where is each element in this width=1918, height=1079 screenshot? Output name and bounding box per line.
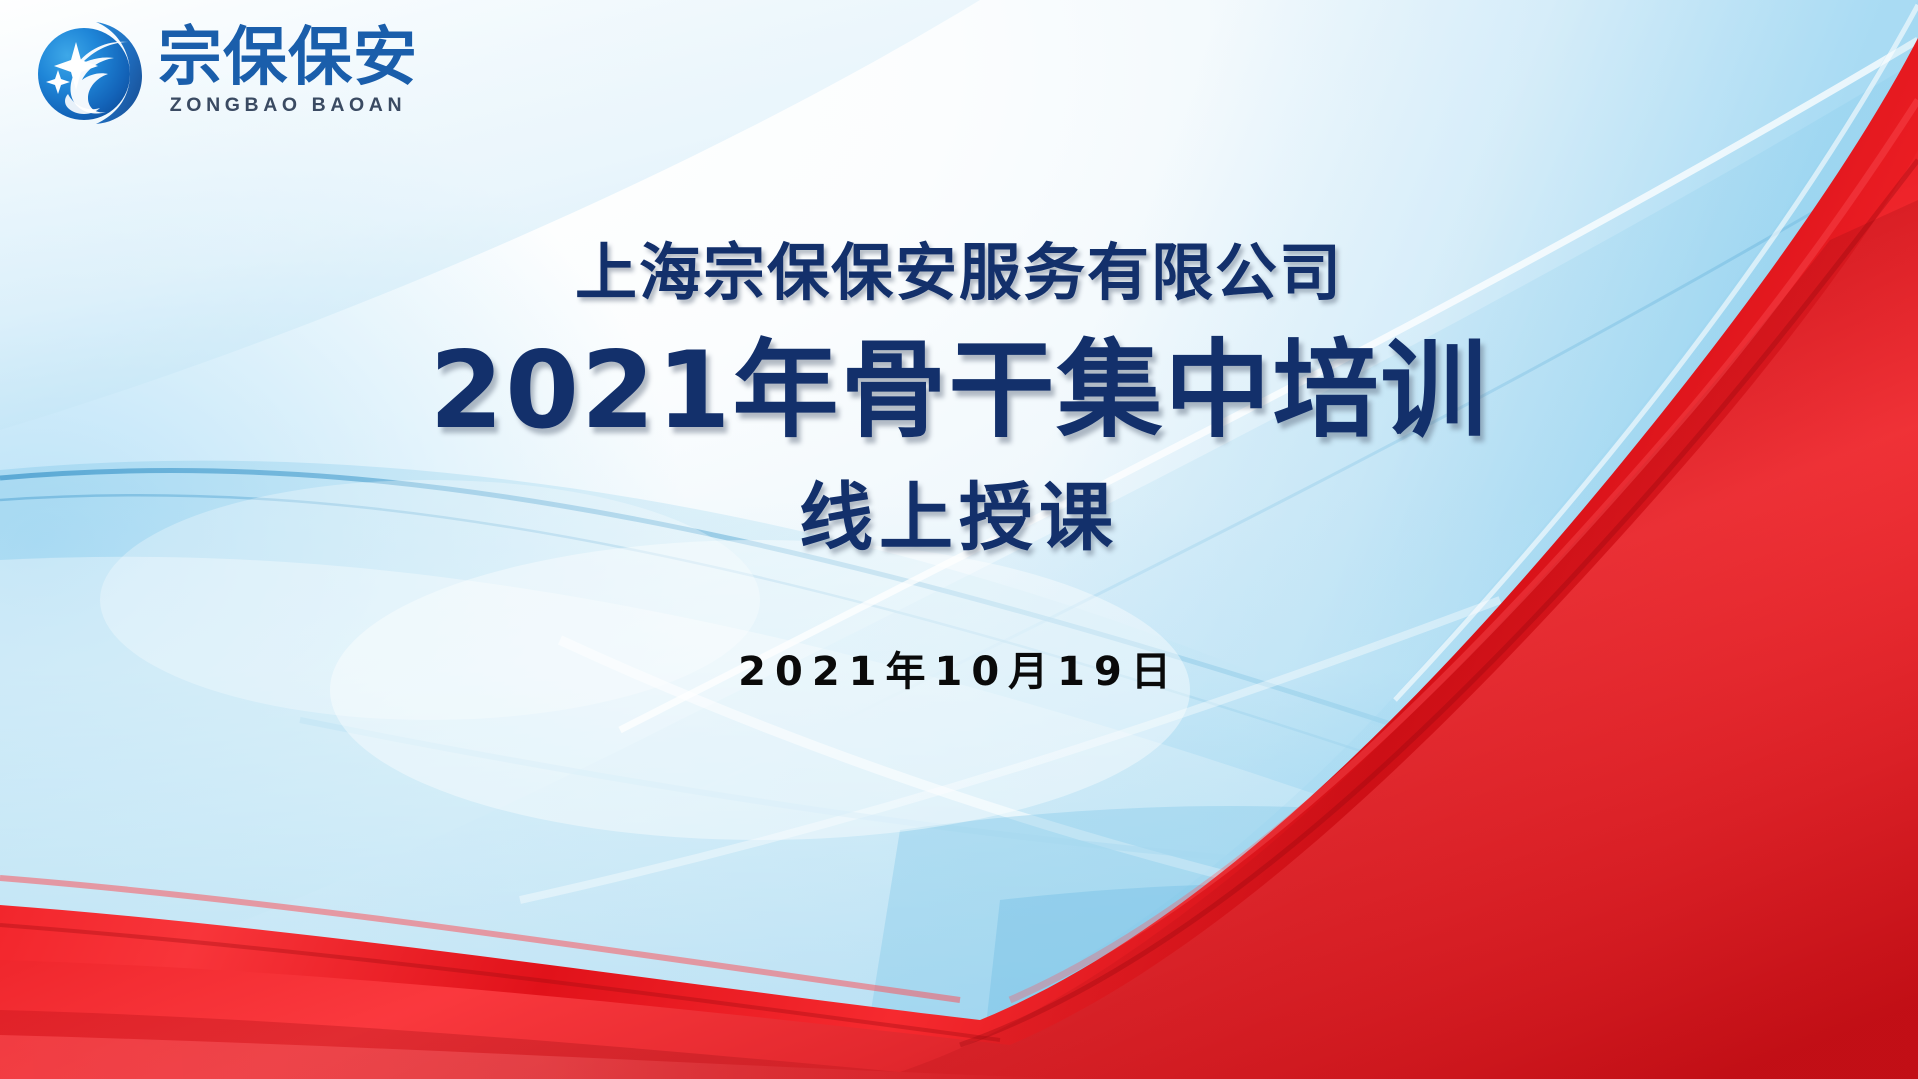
company-name-line: 上海宗保保安服务有限公司 bbox=[0, 236, 1918, 309]
title-block: 上海宗保保安服务有限公司 2021年骨干集中培训 线上授课 2021年10月19… bbox=[0, 236, 1918, 697]
main-title: 2021年骨干集中培训 bbox=[0, 331, 1918, 452]
subtitle: 线上授课 bbox=[0, 476, 1918, 561]
logo-chinese-name: 宗保保安 bbox=[158, 26, 418, 90]
company-logo: 宗保保安 ZONGBAO BAOAN bbox=[34, 16, 418, 128]
date-line: 2021年10月19日 bbox=[0, 639, 1918, 697]
logo-english-name: ZONGBAO BAOAN bbox=[158, 94, 418, 117]
zongbao-globe-eagle-logo bbox=[34, 16, 146, 128]
presentation-slide: 宗保保安 ZONGBAO BAOAN 上海宗保保安服务有限公司 2021年骨干集… bbox=[0, 0, 1918, 1079]
